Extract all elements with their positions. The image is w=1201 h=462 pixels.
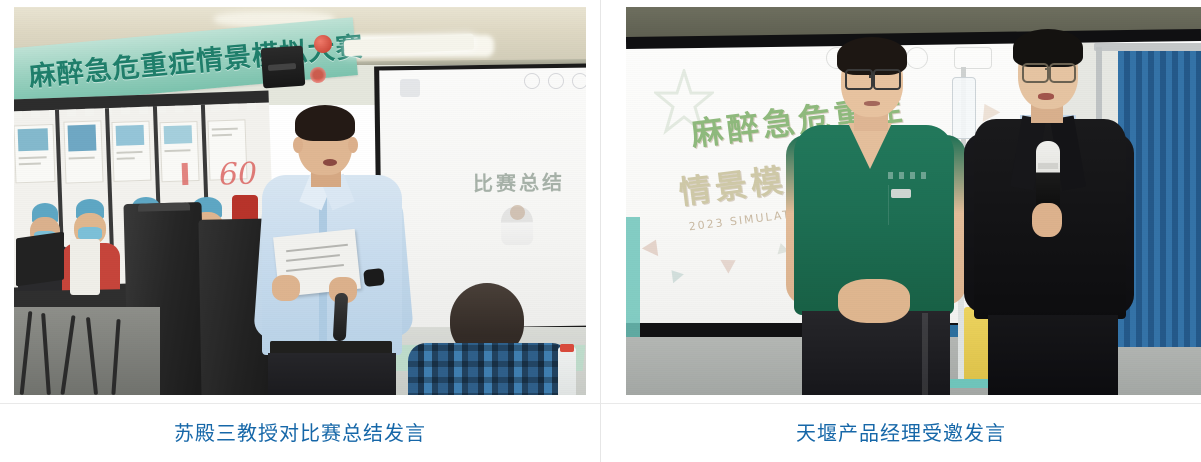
scrubs-man-glasses-bridge [869,75,875,78]
photo-right[interactable]: 麻醉急危重症 情景模拟大赛 2023 SIMULATION COMPETITIO… [626,7,1201,395]
wristwatch [363,268,385,287]
fire-alarm-icon [314,35,332,53]
caption-left[interactable]: 苏殿三教授对比赛总结发言 [174,420,426,446]
slide-avatar-head [510,205,525,220]
poster-anniversary-mark: 60 [218,156,257,192]
microphone-label [1038,163,1058,169]
white-container [70,239,100,295]
slide-logo-icon-1 [524,73,540,89]
water-bottle [558,347,576,395]
speaker-hand-left [272,275,300,301]
equipment-case-handle [138,202,190,211]
microphone [333,293,348,342]
scrubs-man-glasses-left [845,69,873,90]
speaker-trousers [268,353,396,395]
curtain-rail [1094,43,1201,51]
seated-person-shirt-plaid [408,343,570,395]
speaker-hair [295,105,355,141]
banner-logo-icon [309,66,326,83]
iv-bag [952,77,976,139]
photo-left[interactable]: 麻醉急危重症情景模拟大赛 [14,7,586,395]
suit-man-hair [1013,29,1083,67]
scrubs-man-mouth [864,101,880,106]
laptop [16,232,64,287]
caption-right[interactable]: 天堰产品经理受邀发言 [796,420,1006,446]
water-bottle-cap [560,344,574,352]
scrubs-man-glasses-right [873,69,901,90]
scrubs-man-embroidery [888,172,930,179]
image-gallery: 麻醉急危重症情景模拟大赛 [0,0,1201,462]
poster-red-mark [182,163,189,185]
scrubs-man-trouser-stripe [922,313,928,395]
suit-man-glasses-right [1049,63,1076,83]
slide-logo-icon-2 [548,73,564,89]
suit-man-glasses-bridge [1045,68,1050,70]
scrubs-man-clasped-hands [838,279,910,323]
scrubs-man-badge [891,189,911,198]
slide-logo-icon-3 [572,73,586,89]
slide-title: 比赛总结 [469,166,569,196]
slide-logo-top-left-icon [400,79,420,97]
microphone [1036,141,1060,211]
caption-bar-left: 苏殿三教授对比赛总结发言 [0,403,600,462]
green-wall-strip [626,217,640,337]
caption-bar-right: 天堰产品经理受邀发言 [601,403,1201,462]
speaker-mouth [323,159,337,166]
suit-man-mouth [1038,93,1054,100]
suit-man-glasses-left [1022,63,1049,83]
gallery-item-left[interactable]: 麻醉急危重症情景模拟大赛 [0,0,600,462]
suit-man-hand [1032,203,1062,237]
speaker-ear-left [293,137,303,153]
speaker-ear-right [348,137,358,153]
gallery-item-right[interactable]: 麻醉急危重症 情景模拟大赛 2023 SIMULATION COMPETITIO… [600,0,1201,462]
suit-man-trousers [988,315,1118,395]
